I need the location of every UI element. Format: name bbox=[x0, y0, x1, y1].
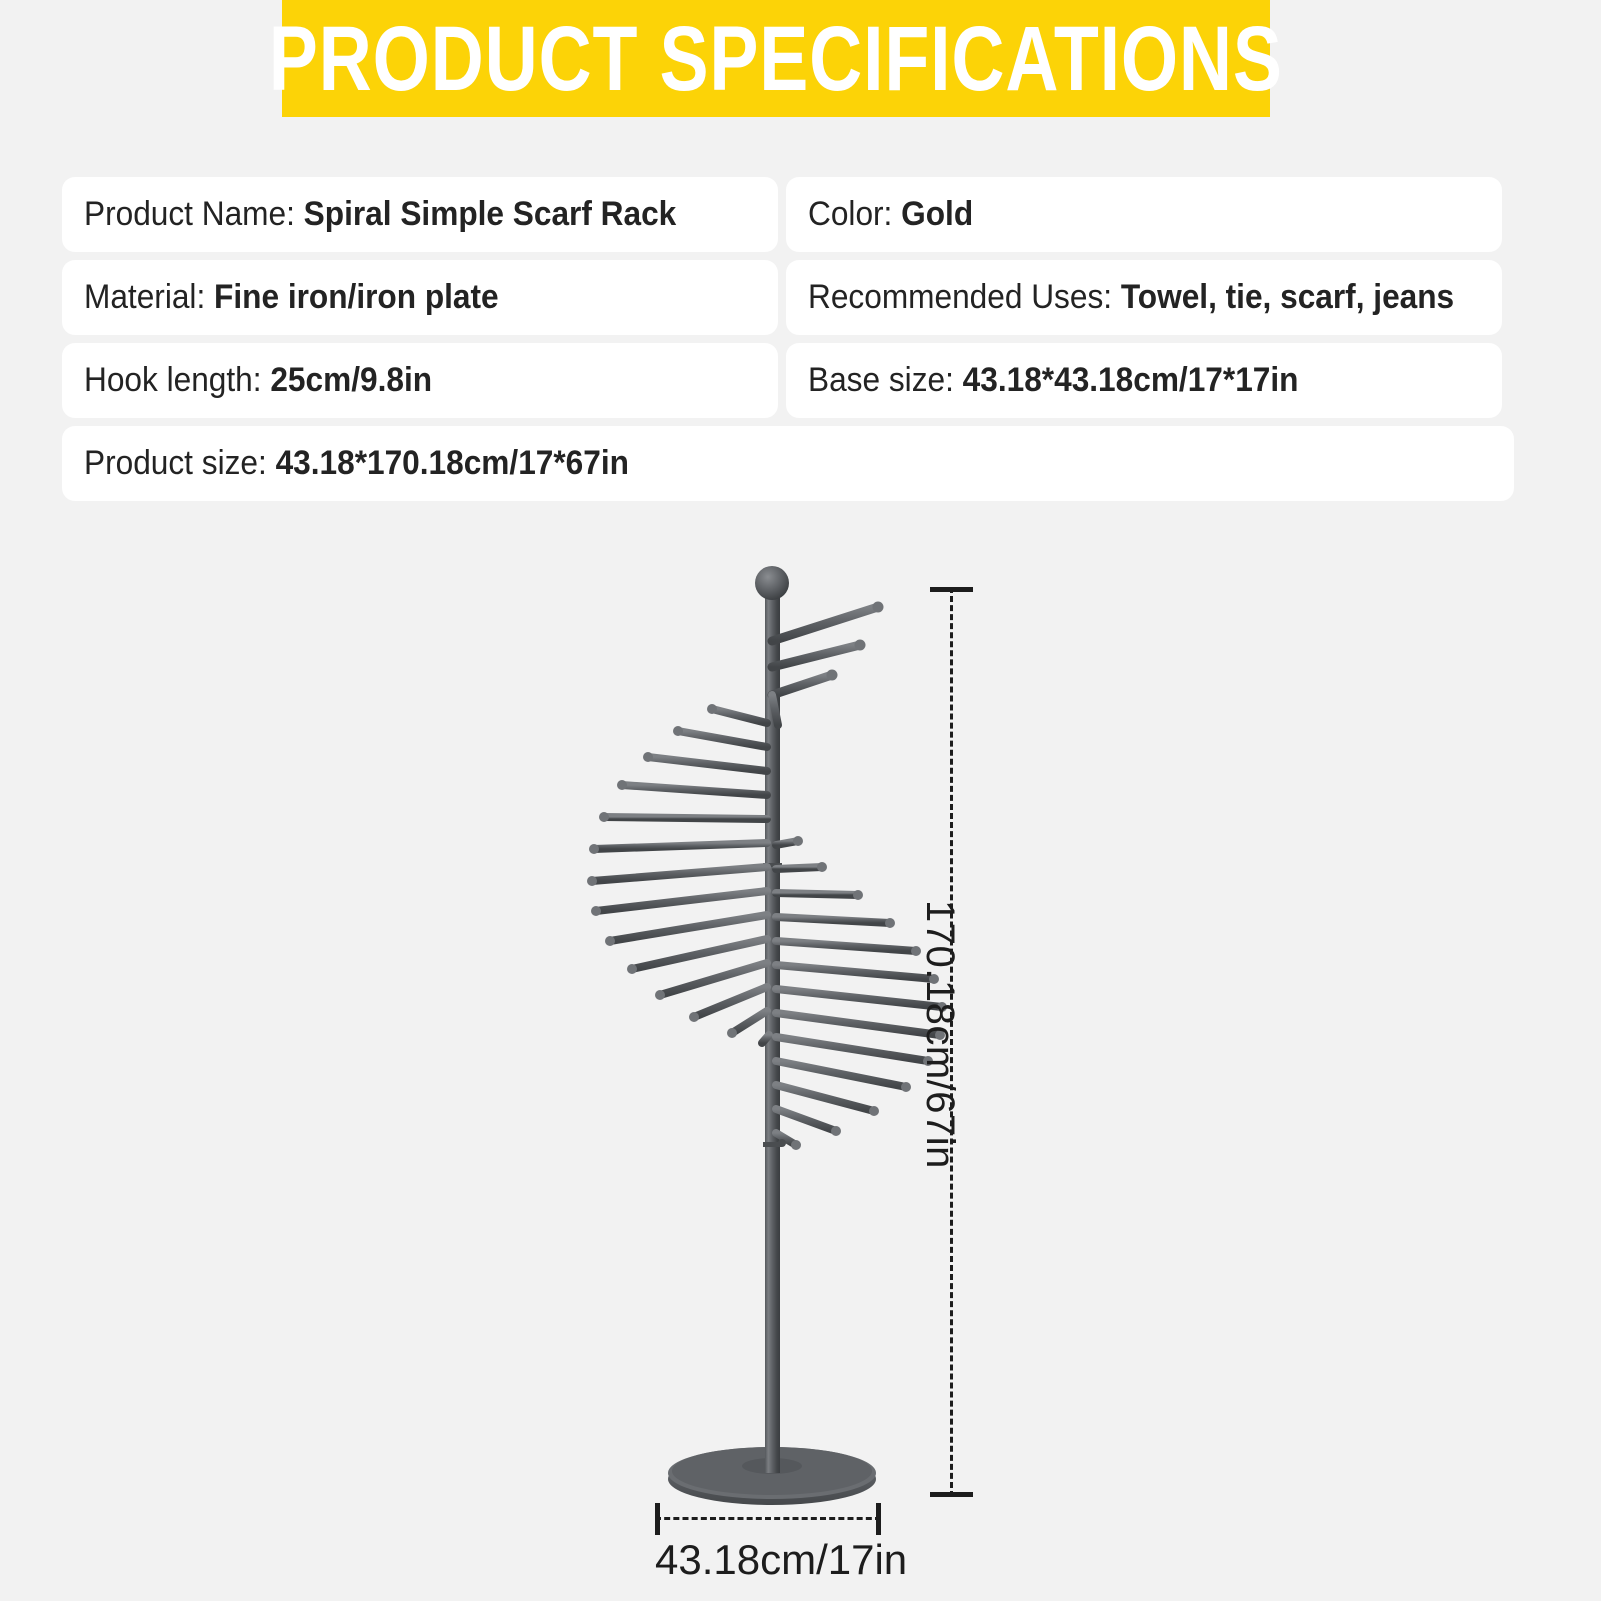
spec-text: Base size: 43.18*43.18cm/17*17in bbox=[808, 361, 1298, 400]
spec-value: 43.18*170.18cm/17*67in bbox=[276, 444, 629, 482]
spec-card-hook-length: Hook length: 25cm/9.8in bbox=[62, 343, 778, 418]
spec-card-base-size: Base size: 43.18*43.18cm/17*17in bbox=[786, 343, 1502, 418]
page-header-banner: PRODUCT SPECIFICATIONS bbox=[282, 0, 1270, 117]
hook-group-top bbox=[772, 602, 884, 726]
spec-text: Color: Gold bbox=[808, 195, 973, 234]
product-illustration bbox=[0, 545, 1601, 1601]
spec-value: 25cm/9.8in bbox=[270, 361, 432, 399]
spec-label: Base size: bbox=[808, 361, 963, 399]
spec-label: Product size: bbox=[84, 444, 276, 482]
spec-text: Hook length: 25cm/9.8in bbox=[84, 361, 432, 400]
spec-label: Recommended Uses: bbox=[808, 278, 1121, 316]
spec-value: Spiral Simple Scarf Rack bbox=[304, 195, 677, 233]
hook-group-upper-spiral bbox=[587, 704, 769, 1043]
spec-row: Hook length: 25cm/9.8in Base size: 43.18… bbox=[62, 343, 1514, 418]
specifications-grid: Product Name: Spiral Simple Scarf Rack C… bbox=[62, 177, 1514, 509]
dimension-cap bbox=[930, 1492, 973, 1497]
spec-card-product-name: Product Name: Spiral Simple Scarf Rack bbox=[62, 177, 778, 252]
height-dimension-label: 170.18cm/67in bbox=[917, 900, 962, 1169]
page-title: PRODUCT SPECIFICATIONS bbox=[269, 13, 1283, 105]
ball-finial bbox=[755, 566, 789, 600]
spec-text: Recommended Uses: Towel, tie, scarf, jea… bbox=[808, 278, 1454, 317]
spec-label: Color: bbox=[808, 195, 901, 233]
spec-text: Product Name: Spiral Simple Scarf Rack bbox=[84, 195, 676, 234]
spec-card-color: Color: Gold bbox=[786, 177, 1502, 252]
spec-value: Gold bbox=[901, 195, 973, 233]
spec-label: Hook length: bbox=[84, 361, 270, 399]
spiral-scarf-rack-image bbox=[560, 545, 1040, 1545]
screw-detail bbox=[778, 1139, 786, 1147]
spec-text: Product size: 43.18*170.18cm/17*67in bbox=[84, 444, 629, 483]
spec-value: Towel, tie, scarf, jeans bbox=[1121, 278, 1454, 316]
dimension-cap bbox=[930, 587, 973, 592]
spec-card-material: Material: Fine iron/iron plate bbox=[62, 260, 778, 335]
spec-label: Product Name: bbox=[84, 195, 304, 233]
spec-label: Material: bbox=[84, 278, 214, 316]
dimension-cap bbox=[655, 1503, 660, 1535]
width-dimension-label: 43.18cm/17in bbox=[655, 1536, 881, 1584]
spec-value: 43.18*43.18cm/17*17in bbox=[963, 361, 1299, 399]
spec-card-product-size: Product size: 43.18*170.18cm/17*67in bbox=[62, 426, 1514, 501]
spec-row: Product Name: Spiral Simple Scarf Rack C… bbox=[62, 177, 1514, 252]
spec-text: Material: Fine iron/iron plate bbox=[84, 278, 499, 317]
spec-value: Fine iron/iron plate bbox=[214, 278, 499, 316]
dashed-line bbox=[655, 1517, 881, 1520]
spec-card-recommended-uses: Recommended Uses: Towel, tie, scarf, jea… bbox=[786, 260, 1502, 335]
width-dimension-line bbox=[655, 1517, 881, 1519]
spec-row: Product size: 43.18*170.18cm/17*67in bbox=[62, 426, 1514, 501]
dimension-cap bbox=[876, 1503, 881, 1535]
spec-row: Material: Fine iron/iron plate Recommend… bbox=[62, 260, 1514, 335]
